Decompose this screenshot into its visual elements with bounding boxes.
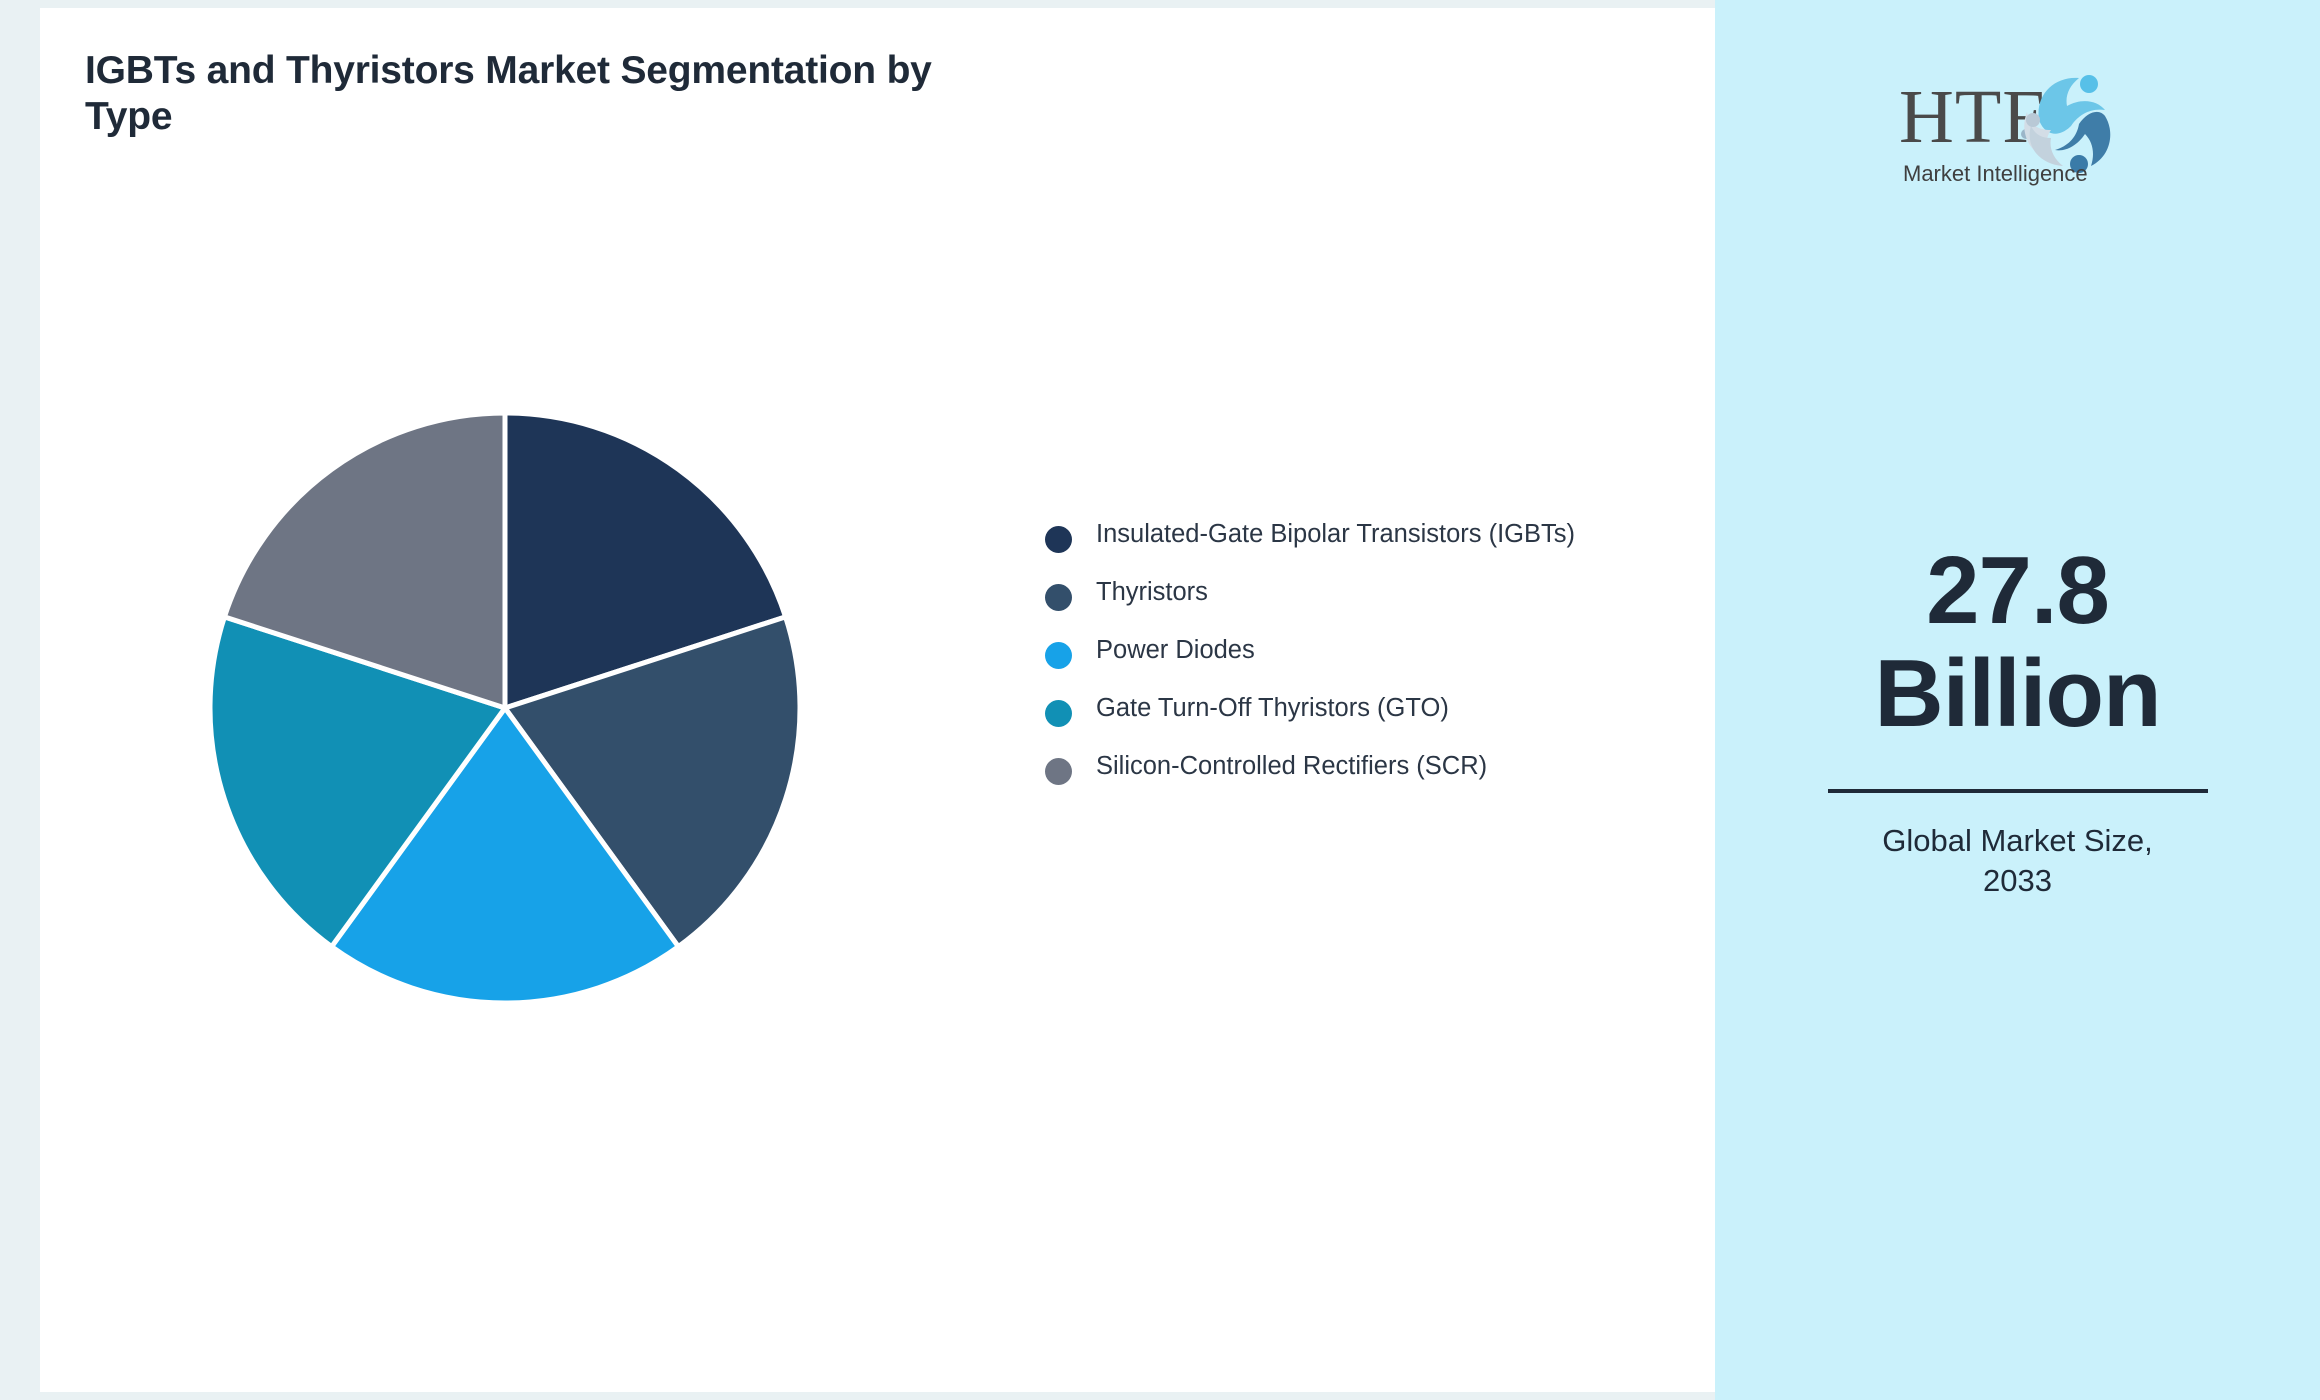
legend-item-label: Insulated-Gate Bipolar Transistors (IGBT… [1096,520,1575,550]
logo-tagline: Market Intelligence [1903,161,2088,186]
chart-card: IGBTs and Thyristors Market Segmentation… [40,8,1715,1392]
legend-swatch-icon [1045,526,1072,553]
legend-item-label: Power Diodes [1096,636,1255,666]
legend-item-label: Silicon-Controlled Rectifiers (SCR) [1096,752,1487,782]
legend-item[interactable]: Insulated-Gate Bipolar Transistors (IGBT… [1045,520,1665,554]
legend-swatch-icon [1045,700,1072,727]
stat-value-line-1: 27.8 [1783,540,2253,643]
legend-item-label: Thyristors [1096,578,1208,608]
stat-divider [1828,789,2208,793]
infographic-page: IGBTs and Thyristors Market Segmentation… [0,0,2320,1400]
pie-chart [205,408,805,1008]
stat-caption-line-1: Global Market Size, [1783,821,2253,861]
page-title: IGBTs and Thyristors Market Segmentation… [85,48,985,140]
pie-chart-svg [205,408,805,1008]
legend-swatch-icon [1045,584,1072,611]
legend-swatch-icon [1045,758,1072,785]
legend-item[interactable]: Power Diodes [1045,636,1665,670]
swoosh-top-head-icon [2080,75,2098,93]
pie-slice-group [210,413,800,1003]
stat-caption: Global Market Size, 2033 [1783,821,2253,900]
legend-swatch-icon [1045,642,1072,669]
legend-item[interactable]: Thyristors [1045,578,1665,612]
legend-item[interactable]: Silicon-Controlled Rectifiers (SCR) [1045,752,1665,786]
htf-market-intelligence-logo: HTF Market Intelligence [1893,60,2143,190]
legend-item[interactable]: Gate Turn-Off Thyristors (GTO) [1045,694,1665,728]
logo-wordmark: HTF [1899,75,2046,159]
swoosh-left-head-icon [2026,113,2040,127]
stat-block: 27.8 Billion Global Market Size, 2033 [1783,540,2253,901]
stat-side-panel: HTF Market Intelligence [1715,0,2320,1400]
logo-svg: HTF Market Intelligence [1893,60,2143,190]
stat-value: 27.8 Billion [1783,540,2253,745]
chart-legend: Insulated-Gate Bipolar Transistors (IGBT… [1045,520,1665,786]
stat-caption-line-2: 2033 [1783,861,2253,901]
stat-value-line-2: Billion [1783,643,2253,746]
legend-item-label: Gate Turn-Off Thyristors (GTO) [1096,694,1449,724]
